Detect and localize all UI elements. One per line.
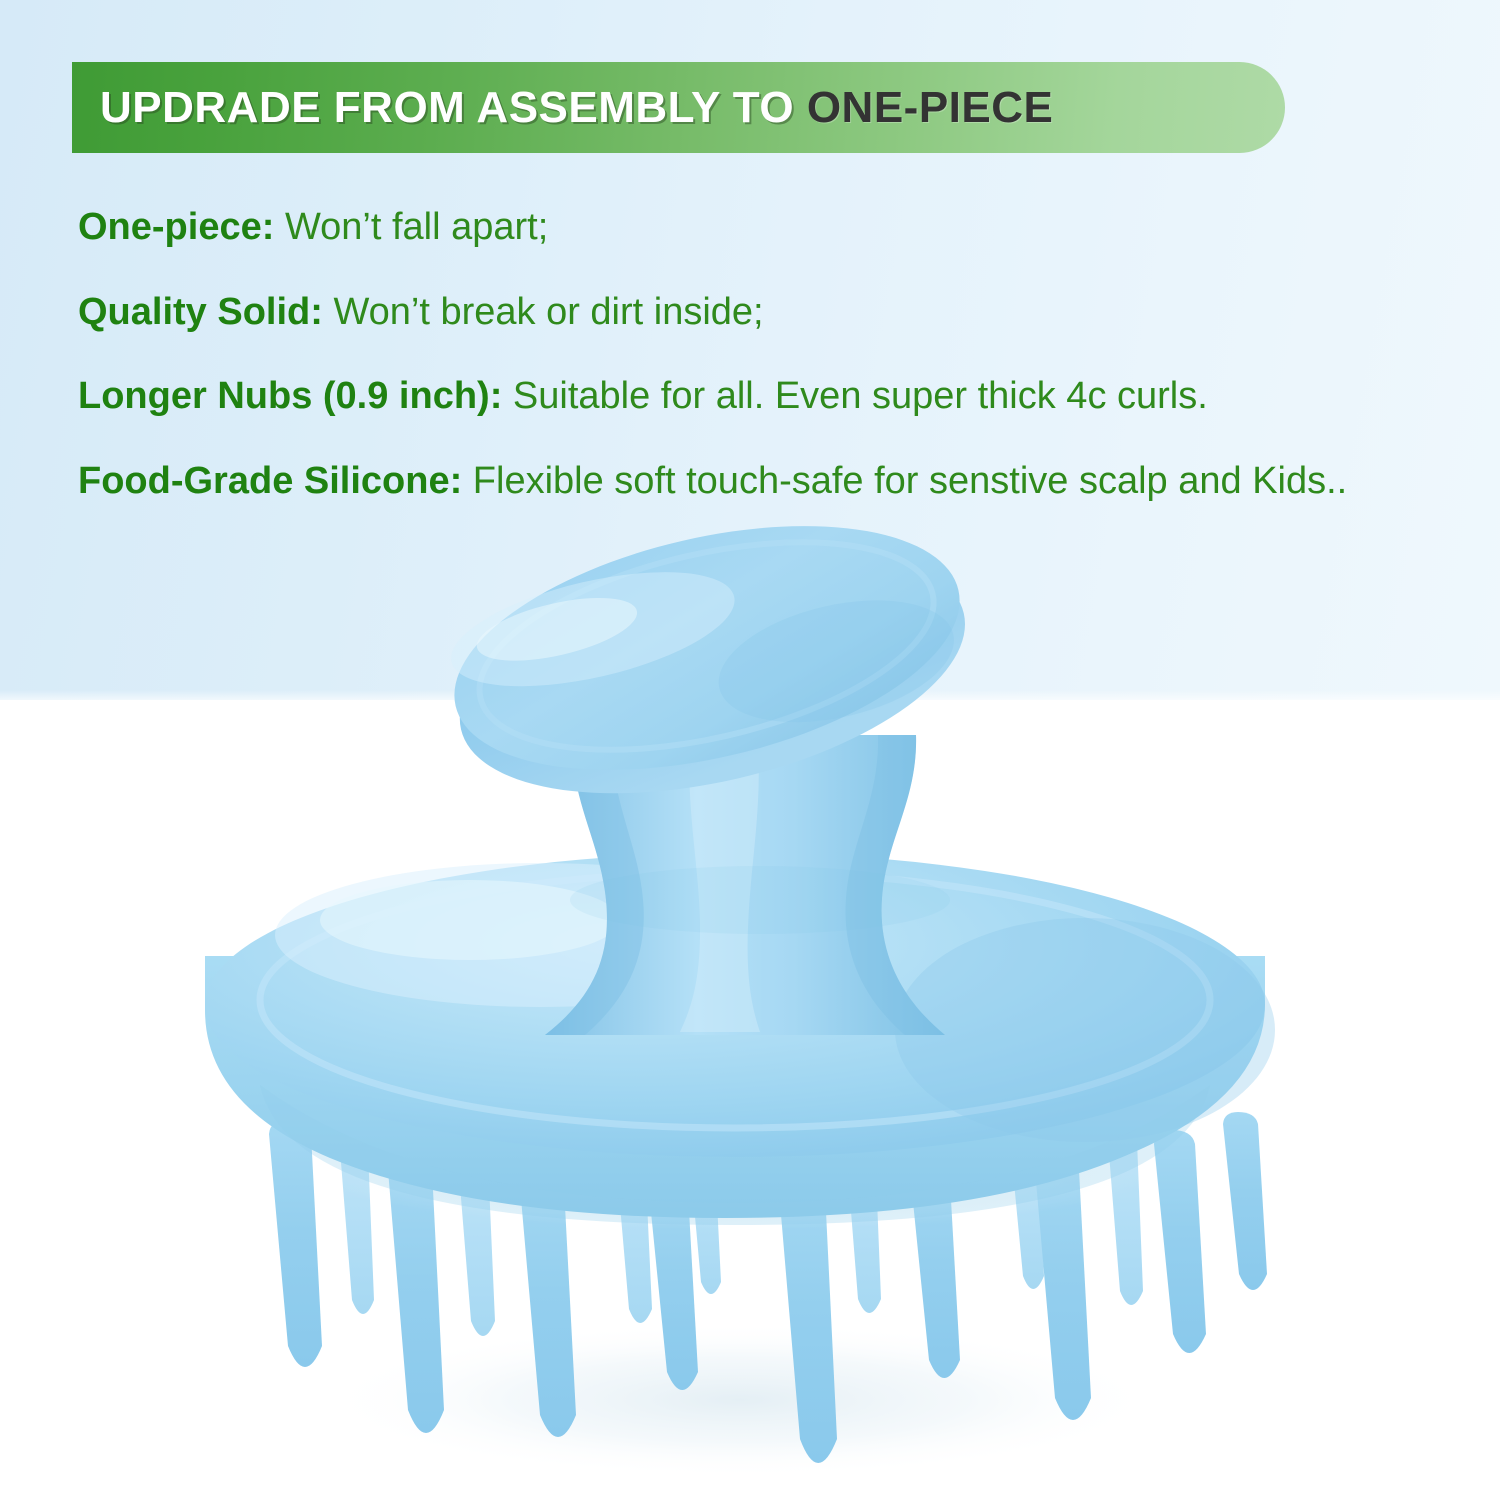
feature-text: Suitable for all. Even super thick 4c cu… [502, 375, 1207, 417]
feature-item-quality-solid: Quality Solid: Won’t break or dirt insid… [78, 291, 1478, 334]
headline-banner-text: UPDRADE FROM ASSEMBLY TO ONE-PIECE [100, 86, 1053, 130]
feature-label: Quality Solid: [78, 291, 323, 333]
headline-dark-part: ONE-PIECE [807, 83, 1054, 132]
product-stage [0, 700, 1500, 1500]
headline-white-part: UPDRADE FROM ASSEMBLY TO [100, 83, 807, 132]
feature-label: Longer Nubs (0.9 inch): [78, 375, 502, 417]
info-panel: UPDRADE FROM ASSEMBLY TO ONE-PIECE One-p… [0, 0, 1500, 706]
feature-list: One-piece: Won’t fall apart; Quality Sol… [78, 206, 1478, 502]
feature-item-longer-nubs: Longer Nubs (0.9 inch): Suitable for all… [78, 375, 1478, 418]
feature-item-one-piece: One-piece: Won’t fall apart; [78, 206, 1478, 249]
feature-text: Won’t break or dirt inside; [323, 291, 764, 333]
feature-label: One-piece: [78, 206, 274, 248]
feature-text: Won’t fall apart; [274, 206, 548, 248]
feature-text: Flexible soft touch-safe for senstive sc… [462, 460, 1347, 502]
headline-banner: UPDRADE FROM ASSEMBLY TO ONE-PIECE [72, 62, 1285, 153]
feature-item-food-grade-silicone: Food-Grade Silicone: Flexible soft touch… [78, 460, 1478, 503]
product-feature-graphic: UPDRADE FROM ASSEMBLY TO ONE-PIECE One-p… [0, 0, 1500, 1500]
feature-label: Food-Grade Silicone: [78, 460, 462, 502]
